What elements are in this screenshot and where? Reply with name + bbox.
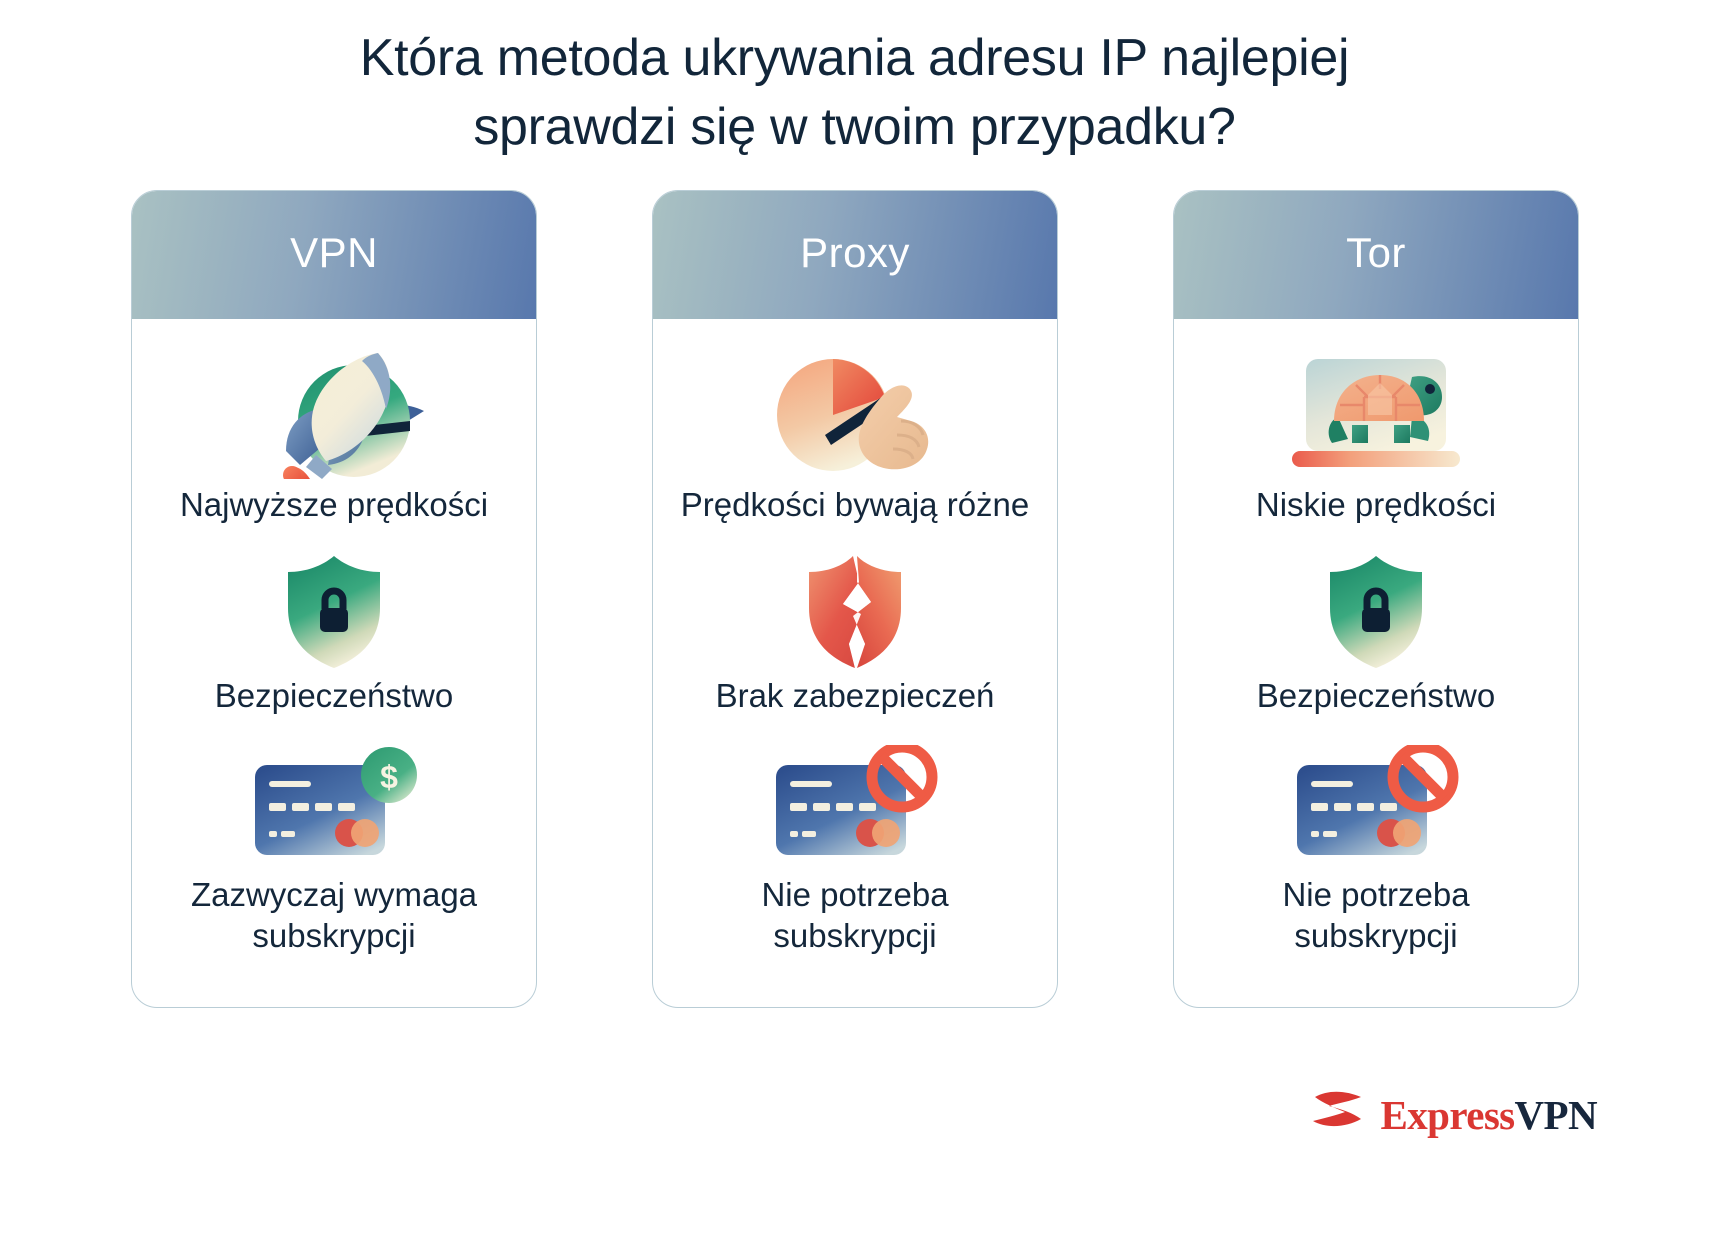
credit-card-prohibited-icon [760,745,950,869]
page-title-line-1: Która metoda ukrywania adresu IP najlepi… [0,24,1709,93]
feature-security-vpn: Bezpieczeństwo [132,552,536,717]
feature-speed-vpn: Najwyższe prędkości [132,343,536,526]
svg-text:$: $ [380,759,398,795]
feature-label-payment-proxy: Nie potrzeba subskrypcji [747,869,962,957]
card-body-tor: Niskie prędkości [1174,319,1578,1007]
turtle-laptop-icon [1276,343,1476,479]
card-header-tor: Tor [1174,191,1578,319]
expressvpn-logo-mark [1307,1085,1369,1144]
feature-label-security-proxy: Brak zabezpieczeń [702,670,1009,717]
rocket-speedometer-icon [234,343,434,479]
comparison-cards: VPN [131,190,1579,1010]
shield-lock-icon [1316,552,1436,670]
feature-security-tor: Bezpieczeństwo [1174,552,1578,717]
infographic-page: Która metoda ukrywania adresu IP najlepi… [0,0,1709,1240]
broken-shield-icon [795,552,915,670]
feature-label-speed-vpn: Najwyższe prędkości [166,479,502,526]
feature-label-security-vpn: Bezpieczeństwo [201,670,467,717]
feature-security-proxy: Brak zabezpieczeń [653,552,1057,717]
card-header-vpn: VPN [132,191,536,319]
expressvpn-logo: ExpressVPN [1307,1085,1597,1144]
card-vpn: VPN [131,190,537,1008]
feature-label-speed-tor: Niskie prędkości [1242,479,1510,526]
feature-speed-tor: Niskie prędkości [1174,343,1578,526]
card-body-vpn: Najwyższe prędkości [132,319,536,1007]
card-title-vpn: VPN [290,229,378,281]
card-title-tor: Tor [1346,229,1406,281]
logo-text-vpn: VPN [1515,1092,1597,1138]
credit-card-prohibited-icon [1281,745,1471,869]
feature-label-security-tor: Bezpieczeństwo [1243,670,1509,717]
logo-text-express: Express [1381,1092,1515,1138]
card-title-proxy: Proxy [800,229,910,281]
feature-label-speed-proxy: Prędkości bywają różne [667,479,1044,526]
card-header-proxy: Proxy [653,191,1057,319]
feature-payment-proxy: Nie potrzeba subskrypcji [653,745,1057,957]
feature-label-payment-tor: Nie potrzeba subskrypcji [1268,869,1483,957]
credit-card-dollar-icon: $ [239,745,429,869]
page-title: Która metoda ukrywania adresu IP najlepi… [0,24,1709,162]
feature-speed-proxy: Prędkości bywają różne [653,343,1057,526]
feature-payment-tor: Nie potrzeba subskrypcji [1174,745,1578,957]
card-body-proxy: Prędkości bywają różne [653,319,1057,1007]
card-proxy: Proxy [652,190,1058,1008]
feature-payment-vpn: $ Zazwyczaj wymaga subskrypcji [132,745,536,957]
card-tor: Tor [1173,190,1579,1008]
speedometer-hand-icon [755,343,955,479]
feature-label-payment-vpn: Zazwyczaj wymaga subskrypcji [177,869,491,957]
shield-lock-icon [274,552,394,670]
page-title-line-2: sprawdzi się w twoim przypadku? [0,93,1709,162]
expressvpn-wordmark: ExpressVPN [1381,1091,1597,1139]
